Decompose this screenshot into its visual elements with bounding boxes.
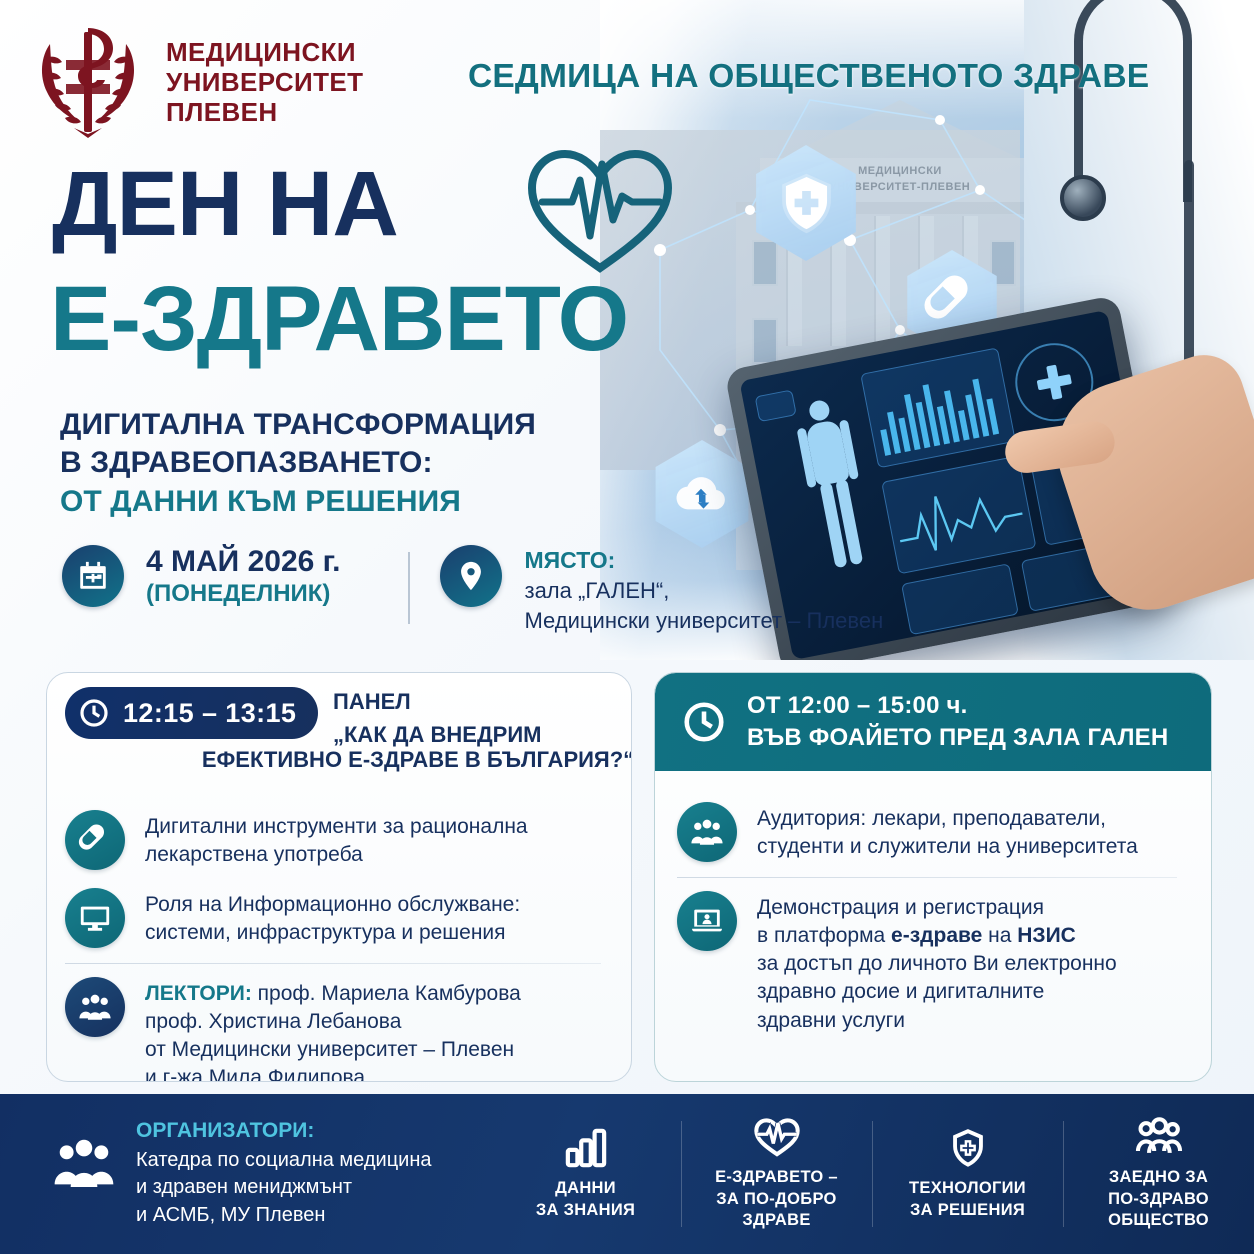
organizers-label: ОРГАНИЗАТОРИ: — [136, 1119, 432, 1143]
laptop-user-icon — [677, 891, 737, 951]
footer-cell-caption-line2: ЗА ЗНАНИЯ — [536, 1200, 635, 1221]
organizers-block: ОРГАНИЗАТОРИ: Катедра по социална медици… — [0, 1119, 490, 1229]
poster-root: МЕДИЦИНСКИ УНИВЕРСИТЕТ-ПЛЕВЕН — [0, 0, 1254, 1254]
list-item-text: Роля на Информационно обслужване: систем… — [145, 888, 520, 947]
place-block: МЯСТО: зала „ГАЛЕН“, Медицински универси… — [524, 545, 883, 637]
footer-cell-caption-line1: Е-ЗДРАВЕТО – — [715, 1167, 838, 1188]
clock-icon — [681, 699, 727, 745]
place-line2: Медицински университет – Плевен — [524, 606, 883, 636]
event-meta: 4 МАЙ 2026 г. (ПОНЕДЕЛНИК) МЯСТО: зала „… — [62, 545, 883, 637]
list-item: Роля на Информационно обслужване: систем… — [65, 879, 613, 957]
organizers-text: ОРГАНИЗАТОРИ: Катедра по социална медици… — [136, 1119, 432, 1229]
demo-line2: в платформа е-здраве на НЗИС — [757, 922, 1117, 950]
footer-cell-caption-line3: ОБЩЕСТВО — [1108, 1210, 1209, 1231]
lecturers-line4: и г-жа Мила Филипова, — [145, 1064, 521, 1082]
organizers-line3: и АСМБ, МУ Плевен — [136, 1202, 432, 1229]
date-block: 4 МАЙ 2026 г. (ПОНЕДЕЛНИК) — [146, 545, 340, 608]
lecturers-row: ЛЕКТОРИ: проф. Мариела Камбурова проф. Х… — [65, 968, 613, 1082]
panel-left-heading: ПАНЕЛ „КАК ДА ВНЕДРИМ ЕФЕКТИВНО Е-ЗДРАВЕ… — [333, 687, 617, 750]
list-item-line1: Роля на Информационно обслужване: — [145, 891, 520, 919]
people-group-icon — [65, 977, 125, 1037]
panel-right-rows: Аудитория: лекари, преподаватели, студен… — [655, 793, 1211, 1044]
place-label: МЯСТО: — [524, 545, 883, 576]
bar-chart-icon — [562, 1127, 610, 1169]
panel-left: 12:15 – 13:15 ПАНЕЛ „КАК ДА ВНЕДРИМ ЕФЕК… — [46, 672, 632, 1082]
list-item-line1: Дигитални инструменти за рационална — [145, 813, 528, 841]
subtitle-line1: ДИГИТАЛНА ТРАНСФОРМАЦИЯ — [60, 406, 536, 444]
list-item-line1: Аудитория: лекари, преподаватели, — [757, 805, 1138, 833]
university-name-line2: УНИВЕРСИТЕТ — [166, 67, 363, 97]
pill-icon — [65, 810, 125, 870]
title-line-2: Е-ЗДРАВЕТО — [50, 273, 628, 365]
demo-line3: за достъп до личното Ви електронно — [757, 950, 1117, 978]
demo-line2a: в платформа — [757, 924, 891, 947]
footer-cell-caption-line1: ДАННИ — [536, 1178, 635, 1199]
list-item-text: Дигитални инструменти за рационална лека… — [145, 810, 528, 869]
list-item-line2: системи, инфраструктура и решения — [145, 919, 520, 947]
list-item: Аудитория: лекари, преподаватели, студен… — [677, 793, 1189, 871]
monitor-icon — [65, 888, 125, 948]
panel-left-rows: Дигитални инструменти за рационална лека… — [47, 801, 631, 1082]
panel-right-heading-line2: ВЪВ ФОАЙЕТО ПРЕД ЗАЛА ГАЛЕН — [747, 722, 1168, 754]
demo-platform-name: е-здраве — [891, 924, 982, 947]
people-group-icon — [677, 802, 737, 862]
demo-line4: здравно досие и дигиталните — [757, 978, 1117, 1006]
organizers-line1: Катедра по социална медицина — [136, 1147, 432, 1174]
clock-icon — [78, 697, 110, 729]
date-weekday: (ПОНЕДЕЛНИК) — [146, 580, 340, 609]
calendar-icon — [62, 545, 124, 607]
lecturers-name1: проф. Мариела Камбурова — [252, 982, 521, 1005]
asclepius-laurel-emblem — [24, 18, 152, 146]
footer-cell-caption-line3: ЗДРАВЕ — [715, 1210, 838, 1231]
people-group-icon — [1135, 1116, 1183, 1158]
organizers-line2: и здравен мениджмънт — [136, 1174, 432, 1201]
panel-left-divider — [65, 963, 601, 964]
map-pin-icon — [440, 545, 502, 607]
university-logo: МЕДИЦИНСКИ УНИВЕРСИТЕТ ПЛЕВЕН — [24, 18, 363, 146]
footer-cell-caption: Е-ЗДРАВЕТО – ЗА ПО-ДОБРО ЗДРАВЕ — [715, 1167, 838, 1231]
list-item: Дигитални инструменти за рационална лека… — [65, 801, 613, 879]
lecturers-label: ЛЕКТОРИ: — [145, 982, 252, 1005]
panel-left-time: 12:15 – 13:15 — [123, 698, 296, 729]
footer-cell-tech: ТЕХНОЛОГИИ ЗА РЕШЕНИЯ — [872, 1115, 1063, 1233]
lecturers-first-line: ЛЕКТОРИ: проф. Мариела Камбурова — [145, 980, 521, 1008]
chart-card — [860, 347, 1016, 468]
demo-line1: Демонстрация и регистрация — [757, 894, 1117, 922]
title-line-1: ДЕН НА — [52, 158, 398, 250]
footer-cells: ДАННИ ЗА ЗНАНИЯ Е-ЗДРАВЕТО – ЗА ПО-ДОБРО… — [490, 1115, 1254, 1233]
heart-pulse-icon — [520, 140, 680, 280]
list-item-line2: студенти и служители на университета — [757, 833, 1138, 861]
shield-cross-icon — [944, 1127, 992, 1169]
place-line1: зала „ГАЛЕН“, — [524, 576, 883, 606]
footer-cell-caption: ЗАЕДНО ЗА ПО-ЗДРАВО ОБЩЕСТВО — [1108, 1167, 1209, 1231]
panel-right-divider — [677, 877, 1177, 878]
meta-divider — [408, 552, 410, 624]
footer-cell-ehealth: Е-ЗДРАВЕТО – ЗА ПО-ДОБРО ЗДРАВЕ — [681, 1115, 872, 1233]
demo-nzis: НЗИС — [1017, 924, 1076, 947]
subtitle-line2: В ЗДРАВЕОПАЗВАНЕТО: — [60, 444, 536, 482]
footer-cell-caption-line1: ТЕХНОЛОГИИ — [909, 1178, 1026, 1199]
heart-pulse-icon — [753, 1116, 801, 1158]
lecturers-line2: проф. Христина Лебанова — [145, 1008, 521, 1036]
stethoscope-chestpiece — [1060, 175, 1106, 221]
footer-cell-caption-line1: ЗАЕДНО ЗА — [1108, 1167, 1209, 1188]
panel-right-heading: ОТ 12:00 – 15:00 ч. ВЪВ ФОАЙЕТО ПРЕД ЗАЛ… — [655, 673, 1211, 771]
footer-cell-caption-line2: ЗА РЕШЕНИЯ — [909, 1200, 1026, 1221]
demo-row: Демонстрация и регистрация в платформа е… — [677, 882, 1189, 1044]
demo-line5: здравни услуги — [757, 1007, 1117, 1035]
panel-right-heading-text: ОТ 12:00 – 15:00 ч. ВЪВ ФОАЙЕТО ПРЕД ЗАЛ… — [747, 690, 1168, 753]
panel-left-heading-line3: ЕФЕКТИВНО Е-ЗДРАВЕ В БЪЛГАРИЯ?“ — [183, 745, 632, 774]
panel-right: ОТ 12:00 – 15:00 ч. ВЪВ ФОАЙЕТО ПРЕД ЗАЛ… — [654, 672, 1212, 1082]
university-name: МЕДИЦИНСКИ УНИВЕРСИТЕТ ПЛЕВЕН — [166, 37, 363, 127]
panel-right-heading-line1: ОТ 12:00 – 15:00 ч. — [747, 690, 1168, 722]
panel-left-time-pill: 12:15 – 13:15 — [65, 687, 318, 739]
date-main: 4 МАЙ 2026 г. — [146, 545, 340, 580]
demo-line2c: на — [982, 924, 1017, 947]
panel-left-heading-line1: ПАНЕЛ — [333, 687, 617, 716]
list-item-text: Аудитория: лекари, преподаватели, студен… — [757, 802, 1138, 861]
demo-text: Демонстрация и регистрация в платформа е… — [757, 891, 1117, 1035]
footer-cell-caption: ТЕХНОЛОГИИ ЗА РЕШЕНИЯ — [909, 1178, 1026, 1221]
footer-cell-data: ДАННИ ЗА ЗНАНИЯ — [490, 1115, 681, 1233]
footer-cell-caption-line2: ПО-ЗДРАВО — [1108, 1189, 1209, 1210]
subtitle: ДИГИТАЛНА ТРАНСФОРМАЦИЯ В ЗДРАВЕОПАЗВАНЕ… — [60, 406, 536, 521]
subtitle-line3: ОТ ДАННИ КЪМ РЕШЕНИЯ — [60, 483, 536, 521]
lecturers-line3: от Медицински университет – Плевен — [145, 1036, 521, 1064]
list-item-line2: лекарствена употреба — [145, 841, 528, 869]
lecturers-text: ЛЕКТОРИ: проф. Мариела Камбурова проф. Х… — [145, 977, 521, 1082]
people-group-icon — [52, 1131, 116, 1195]
university-name-line1: МЕДИЦИНСКИ — [166, 37, 363, 67]
badge-card — [755, 389, 797, 422]
week-title: СЕДМИЦА НА ОБЩЕСТВЕНОТО ЗДРАВЕ — [468, 58, 1208, 96]
data-card — [901, 563, 1019, 635]
university-name-line3: ПЛЕВЕН — [166, 97, 363, 127]
ecg-card — [881, 455, 1036, 574]
footer-cell-caption-line2: ЗА ПО-ДОБРО — [715, 1189, 838, 1210]
footer-cell-caption: ДАННИ ЗА ЗНАНИЯ — [536, 1178, 635, 1221]
footer-cell-society: ЗАЕДНО ЗА ПО-ЗДРАВО ОБЩЕСТВО — [1063, 1115, 1254, 1233]
stethoscope-tube — [1074, 0, 1192, 202]
footer: ОРГАНИЗАТОРИ: Катедра по социална медици… — [0, 1094, 1254, 1254]
